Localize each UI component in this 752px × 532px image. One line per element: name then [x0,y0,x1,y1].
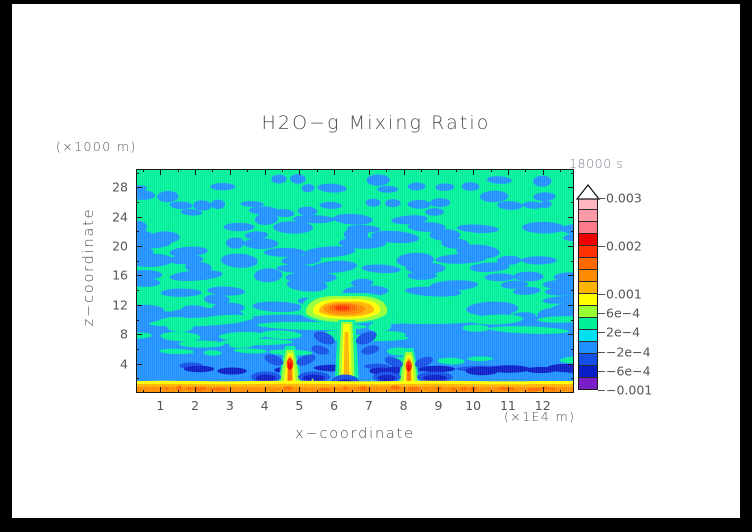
colorbar-tick-mark [598,294,605,295]
x-tick-mark [369,169,370,175]
x-minor-tick-mark [143,390,144,393]
y-minor-tick-mark [136,320,139,321]
x-tick-mark [160,387,161,393]
colorbar-band [578,318,598,330]
y-tick-label: 12 [94,297,128,312]
x-tick-mark [160,169,161,175]
y-tick-mark [568,246,574,247]
y-tick-mark [568,334,574,335]
y-tick-label: 4 [94,356,128,371]
y-minor-tick-mark [571,320,574,321]
x-tick-mark [195,169,196,175]
x-minor-tick-mark [386,390,387,393]
x-tick-label: 1 [156,398,164,413]
x-minor-tick-mark [178,169,179,172]
x-minor-tick-mark [247,390,248,393]
colorbar-tick-mark [598,352,605,353]
x-minor-tick-mark [247,169,248,172]
x-tick-mark [543,387,544,393]
y-minor-tick-mark [571,349,574,350]
x-tick-label: 12 [535,398,551,413]
x-tick-mark [265,169,266,175]
x-minor-tick-mark [282,169,283,172]
x-tick-mark [230,169,231,175]
x-tick-label: 10 [465,398,481,413]
x-tick-label: 6 [330,398,338,413]
y-tick-label: 16 [94,268,128,283]
x-minor-tick-mark [525,169,526,172]
contour-field [137,170,574,393]
y-minor-tick-mark [571,290,574,291]
colorbar-band [578,306,598,318]
y-minor-tick-mark [136,290,139,291]
colorbar-band [578,342,598,354]
contour-plot-panel [136,169,574,393]
page-title: H2O−g Mixing Ratio [12,112,740,134]
y-minor-tick-mark [571,231,574,232]
figure-canvas: H2O−g Mixing Ratio (×1000 m) (×1E4 m) x−… [12,4,740,518]
x-tick-mark [265,387,266,393]
x-tick-label: 8 [400,398,408,413]
y-minor-tick-mark [571,378,574,379]
x-tick-mark [473,169,474,175]
y-minor-tick-mark [136,349,139,350]
colorbar-band [578,270,598,282]
y-tick-mark [136,246,142,247]
y-tick-mark [136,334,142,335]
x-tick-mark [369,387,370,393]
x-minor-tick-mark [560,169,561,172]
y-tick-label: 28 [94,180,128,195]
colorbar-tick-mark [598,371,605,372]
y-tick-label: 8 [94,327,128,342]
time-stamp-label: 18000 s [569,156,623,171]
x-minor-tick-mark [456,390,457,393]
colorbar-tick-label: −2e−4 [606,344,651,359]
x-minor-tick-mark [491,169,492,172]
x-minor-tick-mark [212,169,213,172]
x-axis-title: x−coordinate [136,426,574,442]
x-tick-label: 9 [434,398,442,413]
y-tick-mark [568,305,574,306]
x-tick-mark [230,387,231,393]
y-tick-mark [568,364,574,365]
colorbar-tick-mark [598,332,605,333]
x-tick-mark [438,169,439,175]
colorbar-tick-label: 0.003 [606,191,642,206]
colorbar-tick-label: 6e−4 [606,306,640,321]
colorbar-tick-label: 0.002 [606,239,642,254]
x-minor-tick-mark [421,169,422,172]
colorbar-band [578,246,598,258]
colorbar-band [578,294,598,306]
x-tick-mark [404,387,405,393]
x-tick-mark [404,169,405,175]
x-minor-tick-mark [352,169,353,172]
y-axis-unit-label: (×1000 m) [56,139,137,154]
colorbar-tick-mark [598,246,605,247]
y-minor-tick-mark [136,261,139,262]
x-tick-mark [473,387,474,393]
y-tick-mark [568,217,574,218]
x-tick-mark [195,387,196,393]
colorbar-band [578,378,598,390]
x-tick-mark [543,169,544,175]
x-tick-label: 7 [365,398,373,413]
x-tick-mark [508,387,509,393]
x-tick-label: 5 [295,398,303,413]
colorbar-band [578,354,598,366]
x-minor-tick-mark [525,390,526,393]
y-minor-tick-mark [136,231,139,232]
x-tick-mark [334,387,335,393]
colorbar-tick-mark [598,313,605,314]
colorbar-band [578,366,598,378]
x-tick-label: 4 [261,398,269,413]
y-tick-mark [136,217,142,218]
colorbar-band [578,234,598,246]
y-tick-label: 24 [94,209,128,224]
y-minor-tick-mark [136,173,139,174]
y-minor-tick-mark [136,202,139,203]
x-tick-mark [299,169,300,175]
x-minor-tick-mark [282,390,283,393]
x-tick-label: 2 [191,398,199,413]
colorbar-tick-mark [598,390,605,391]
y-tick-mark [136,187,142,188]
y-minor-tick-mark [571,173,574,174]
colorbar-tick-label: −6e−4 [606,363,651,378]
y-minor-tick-mark [571,202,574,203]
x-tick-label: 3 [226,398,234,413]
x-minor-tick-mark [456,169,457,172]
y-minor-tick-mark [136,378,139,379]
x-minor-tick-mark [143,169,144,172]
colorbar-band [578,258,598,270]
colorbar-band [578,282,598,294]
y-tick-mark [568,275,574,276]
x-minor-tick-mark [386,169,387,172]
x-minor-tick-mark [560,390,561,393]
y-minor-tick-mark [571,261,574,262]
x-minor-tick-mark [317,390,318,393]
y-tick-mark [136,364,142,365]
x-minor-tick-mark [491,390,492,393]
x-minor-tick-mark [212,390,213,393]
colorbar-band [578,222,598,234]
x-tick-label: 11 [500,398,516,413]
x-tick-mark [508,169,509,175]
colorbar-tick-label: −0.001 [606,383,652,398]
y-tick-mark [136,275,142,276]
colorbar-tick-label: 2e−4 [606,325,640,340]
colorbar-band [578,210,598,222]
y-tick-mark [136,305,142,306]
x-tick-mark [334,169,335,175]
x-minor-tick-mark [317,169,318,172]
colorbar [578,198,598,390]
colorbar-tick-mark [598,198,605,199]
x-tick-mark [438,387,439,393]
x-minor-tick-mark [352,390,353,393]
y-tick-label: 20 [94,239,128,254]
y-tick-mark [568,187,574,188]
x-tick-mark [299,387,300,393]
colorbar-band [578,330,598,342]
x-minor-tick-mark [178,390,179,393]
figure-root: H2O−g Mixing Ratio (×1000 m) (×1E4 m) x−… [0,0,752,532]
colorbar-tick-label: 0.001 [606,287,642,302]
x-minor-tick-mark [421,390,422,393]
